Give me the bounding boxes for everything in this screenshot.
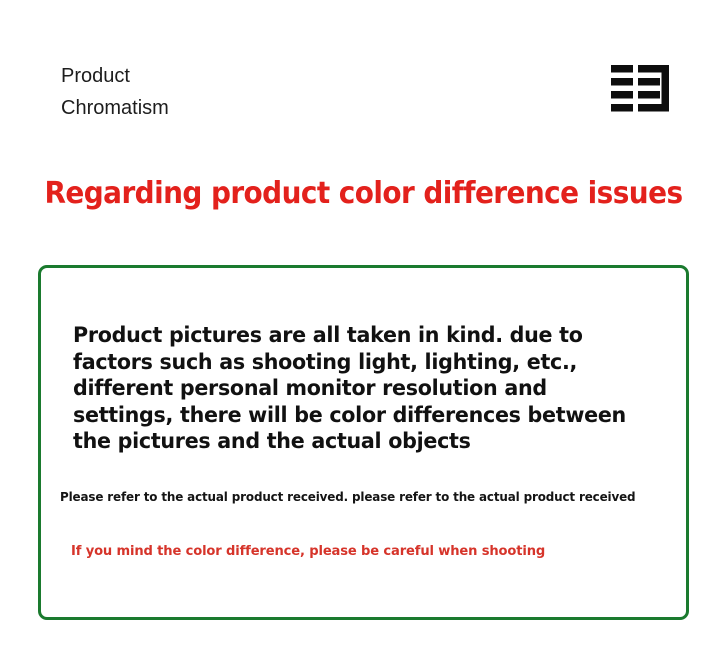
color-difference-notice-box: Product pictures are all taken in kind. … [38,265,689,620]
notice-subtext: Please refer to the actual product recei… [60,489,658,506]
page-main-heading: Regarding product color difference issue… [25,176,701,211]
list-bracket-icon [609,62,673,120]
notice-warning-text: If you mind the color difference, please… [71,542,653,560]
page-header: Product Chromatism [0,0,727,150]
page-title: Product Chromatism [61,60,169,124]
notice-paragraph: Product pictures are all taken in kind. … [73,323,639,456]
